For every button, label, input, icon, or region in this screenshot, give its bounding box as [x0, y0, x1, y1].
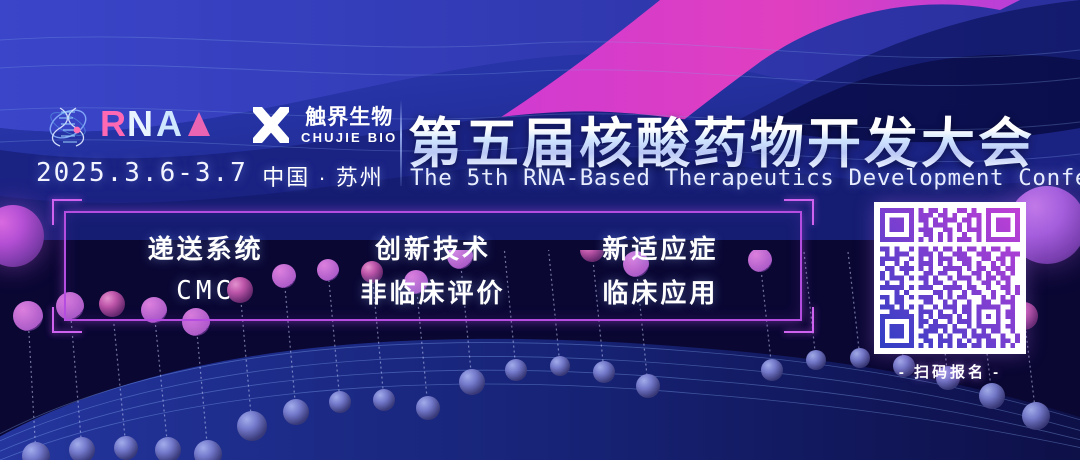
svg-text:A: A [156, 104, 182, 144]
topics-grid: 递送系统 创新技术 新适应症 CMC 非临床评价 临床应用 [92, 225, 774, 313]
qr-caption: - 扫码报名 - [874, 361, 1026, 382]
partner-name-cn: 触界生物 [305, 107, 393, 128]
partner-name-en: CHUJIE BIO [301, 131, 397, 144]
conference-location: 中国 · 苏州 [258, 160, 388, 192]
partner-name: 触界生物 CHUJIE BIO [301, 107, 397, 144]
x-cross-icon [250, 104, 292, 146]
header-divider [400, 100, 402, 186]
qr-code-icon[interactable] [874, 202, 1026, 354]
topic-item: 非临床评价 [360, 273, 505, 310]
conference-banner: R N A 2025.3.6-3.7 触界生物 CHUJIE BIO 中国 · … [0, 0, 1080, 460]
dna-helix-icon [44, 100, 92, 148]
topic-item: 递送系统 [148, 229, 264, 266]
svg-text:N: N [127, 104, 153, 144]
topics-panel: 递送系统 创新技术 新适应症 CMC 非临床评价 临床应用 [52, 199, 814, 333]
frame-corner-top-left [52, 199, 82, 225]
frame-corner-top-right [784, 199, 814, 225]
topic-item: 新适应症 [602, 229, 718, 266]
topic-item: CMC [176, 276, 235, 306]
page-subtitle: The 5th RNA-Based Therapeutics Developme… [410, 165, 1080, 191]
frame-corner-bottom-right [784, 307, 814, 333]
frame-corner-bottom-left [52, 307, 82, 333]
topic-item: 临床应用 [602, 273, 718, 310]
partner-logo: 触界生物 CHUJIE BIO [250, 104, 397, 146]
svg-text:R: R [100, 104, 126, 144]
conference-date: 2025.3.6-3.7 [36, 158, 248, 188]
topic-item: 创新技术 [375, 229, 491, 266]
rna-wordmark: R N A [100, 104, 222, 144]
rna-logo: R N A [44, 100, 222, 148]
